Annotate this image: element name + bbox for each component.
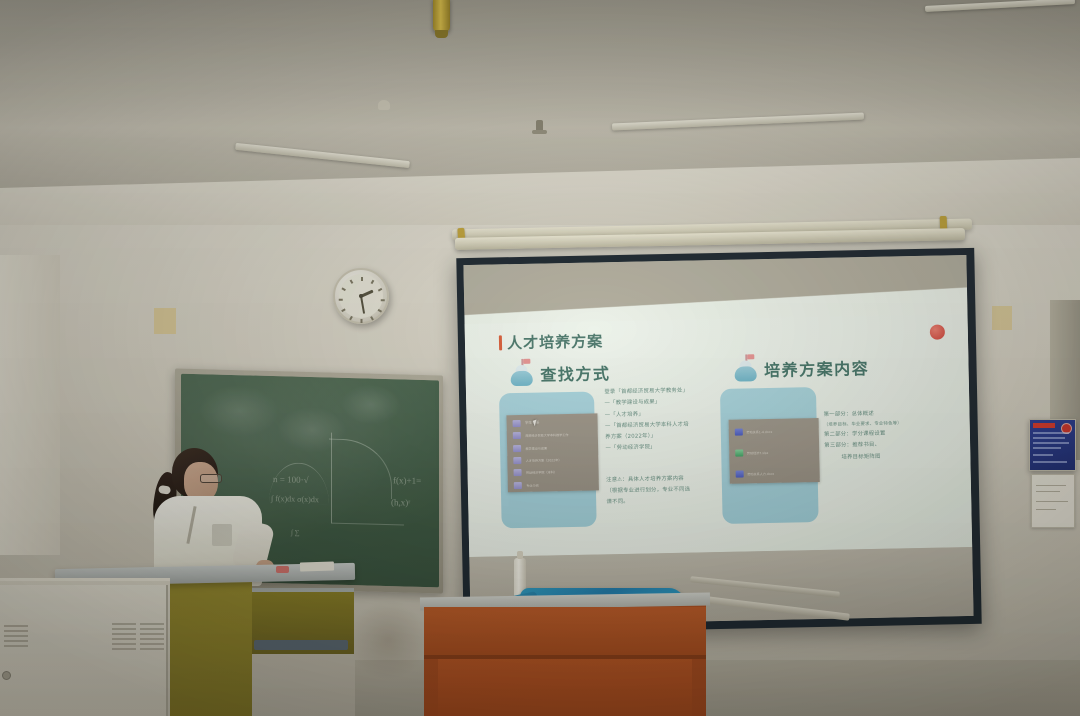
clock-center-pin (359, 294, 363, 298)
shirt-pocket (212, 524, 232, 546)
folder-icon (514, 482, 522, 489)
slide-title: 人才培养方案 (499, 330, 603, 353)
cabinet-door[interactable] (50, 585, 102, 716)
note-line: 课不同。 (606, 495, 722, 508)
left-body-text: 登录「首都经济贸易大学教务处」 —「教学建设与成果」 —「人才培养」 —「首都经… (604, 385, 716, 454)
red-object-on-desk (276, 566, 289, 573)
teacher-desk (160, 578, 252, 716)
file-name: 劳动关系人力.docx (747, 471, 774, 477)
card-right: 劳动关系1-4.docx 劳动经济7.xlsx 劳动关系人力.docx (720, 387, 818, 524)
wall-tape-patch (154, 308, 176, 334)
poster-title-bar (1033, 423, 1055, 428)
file-name: 劳动经济学院（本科） (526, 470, 557, 476)
clock-minute-hand (360, 296, 365, 314)
glasses-icon (200, 474, 222, 483)
title-accent-bar (499, 335, 502, 350)
cabinet-door[interactable] (100, 585, 168, 716)
white-notice-sheet (1031, 474, 1075, 528)
ceiling-light-tube (925, 0, 1075, 12)
body-line: —「劳动经济学院」 (605, 441, 716, 454)
right-body-text: 第一部分：总体概述 （培养目标、毕业要求、专业特色等） 第二部分：学分课程设置 … (824, 408, 956, 464)
desk-shelf (250, 588, 354, 654)
slide-decor-dot (930, 325, 945, 340)
ceiling-light-tube (612, 113, 864, 131)
column-heading-right-text: 培养方案内容 (764, 355, 869, 381)
wooden-lectern (424, 603, 706, 716)
chalk-arc-sketch (269, 462, 329, 505)
door-frame (0, 255, 60, 555)
paper-on-desk (300, 561, 334, 571)
excel-icon (735, 449, 743, 456)
file-name: 劳动经济7.xlsx (747, 450, 769, 455)
file-name: 专业介绍 (526, 482, 538, 487)
sprinkler-head-icon (536, 120, 543, 134)
metal-cabinets (0, 578, 170, 716)
file-name: 首都经济贸易大学本科教学工作 (525, 432, 568, 438)
slide-title-text: 人才培养方案 (507, 330, 603, 353)
file-explorer-screenshot-right: 劳动关系1-4.docx 劳动经济7.xlsx 劳动关系人力.docx (728, 418, 820, 483)
wall-stain (348, 600, 428, 680)
card-left: 学生手册 首都经济贸易大学本科教学工作 教学建设与成果 人才培养方案（2022年… (499, 391, 597, 528)
projector-mount (433, 0, 450, 32)
folder-icon (513, 445, 521, 452)
screen-surface: 人才培养方案 查找方式 学生手册 首都经济贸易大学本科教学工作 教学建设与成果 (463, 255, 973, 626)
cabinet-handle[interactable] (2, 671, 11, 680)
ceiling-fixture-knob (378, 100, 390, 110)
file-name: 教学建设与成果 (525, 445, 547, 450)
clock-face (339, 274, 383, 318)
file-name: 人才培养方案（2022年） (526, 457, 562, 463)
left-note-text: 注意⚠：具体人才培养方案内容 （根据专业进行划分，专业不同选 课不同。 (606, 473, 722, 509)
lectern-base (438, 659, 692, 716)
presentation-slide: 人才培养方案 查找方式 学生手册 首都经济贸易大学本科教学工作 教学建设与成果 (465, 314, 973, 558)
folder-icon (514, 457, 522, 464)
penguin-mascot-icon (508, 360, 535, 387)
projection-screen[interactable]: 人才培养方案 查找方式 学生手册 首都经济贸易大学本科教学工作 教学建设与成果 (456, 248, 981, 634)
file-explorer-screenshot-left: 学生手册 首都经济贸易大学本科教学工作 教学建设与成果 人才培养方案（2022年… (507, 413, 599, 492)
ceiling-light-tube (235, 143, 410, 168)
wall-tape-patch (992, 306, 1012, 330)
classroom-photo-scene: n = 100·√ ∫ f(x)dx σ(x)dx f(x)+1= (h,x)ʳ… (0, 0, 1080, 716)
chalk-curve-sketch (331, 433, 404, 526)
word-icon (735, 470, 743, 477)
blue-notice-poster (1029, 419, 1076, 471)
wall-clock (333, 268, 389, 324)
cabinet-door[interactable] (0, 585, 52, 716)
word-icon (734, 428, 742, 435)
folder-icon (513, 420, 521, 427)
penguin-mascot-icon (732, 355, 759, 382)
folder-icon (514, 469, 522, 476)
lectern-front-panel (424, 607, 706, 659)
body-line: 培养目标矩阵图 (824, 450, 955, 464)
column-heading-left: 查找方式 (508, 358, 611, 386)
mouse-cursor-icon (533, 418, 541, 426)
column-heading-left-text: 查找方式 (540, 360, 610, 385)
file-name: 劳动关系1-4.docx (746, 429, 772, 435)
folder-icon (513, 432, 521, 439)
column-heading-right: 培养方案内容 (732, 353, 870, 382)
